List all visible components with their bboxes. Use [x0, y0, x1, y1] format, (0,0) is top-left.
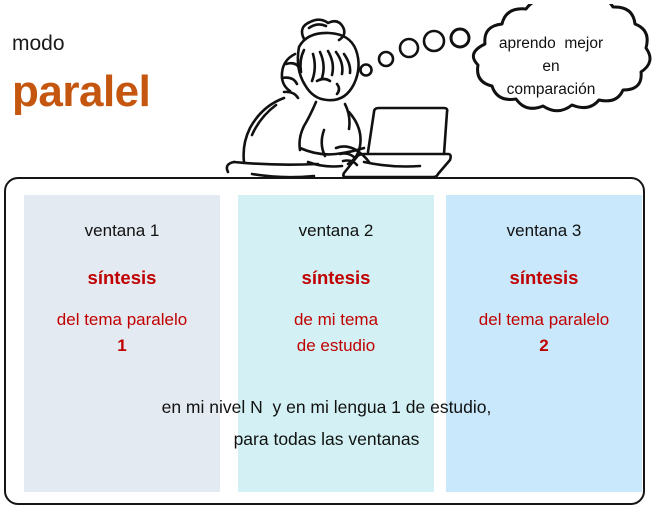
- column-1-title: ventana 1: [24, 221, 220, 241]
- column-2-synthesis: síntesis: [238, 267, 434, 289]
- column-3-title: ventana 3: [446, 221, 642, 241]
- column-2-description: de mi tema de estudio: [238, 307, 434, 359]
- windows-panel: ventana 1 síntesis del tema paralelo 1 v…: [4, 177, 645, 505]
- column-1-description: del tema paralelo 1: [24, 307, 220, 359]
- bubble-line-3: comparación: [470, 78, 632, 101]
- column-3-synthesis: síntesis: [446, 267, 642, 289]
- mode-label: modo: [12, 32, 65, 56]
- column-3-desc-line2: 2: [446, 333, 642, 359]
- column-1-synthesis: síntesis: [24, 267, 220, 289]
- person-studying-at-laptop-icon: [216, 2, 452, 178]
- bubble-line-2: en: [470, 55, 632, 78]
- column-2-desc-line1: de mi tema: [238, 307, 434, 333]
- mode-value: paralel: [12, 66, 150, 118]
- footer-line-2: para todas las ventanas: [6, 423, 647, 455]
- column-1-desc-line2: 1: [24, 333, 220, 359]
- column-3-description: del tema paralelo 2: [446, 307, 642, 359]
- thought-bubble-text: aprendo mejor en comparación: [470, 32, 632, 101]
- footer-line-1: en mi nivel N y en mi lengua 1 de estudi…: [6, 391, 647, 423]
- column-3-desc-line1: del tema paralelo: [446, 307, 642, 333]
- panel-footer-caption: en mi nivel N y en mi lengua 1 de estudi…: [6, 391, 647, 455]
- column-2-desc-line2: de estudio: [238, 333, 434, 359]
- column-1-desc-line1: del tema paralelo: [24, 307, 220, 333]
- column-2-title: ventana 2: [238, 221, 434, 241]
- bubble-line-1: aprendo mejor: [470, 32, 632, 55]
